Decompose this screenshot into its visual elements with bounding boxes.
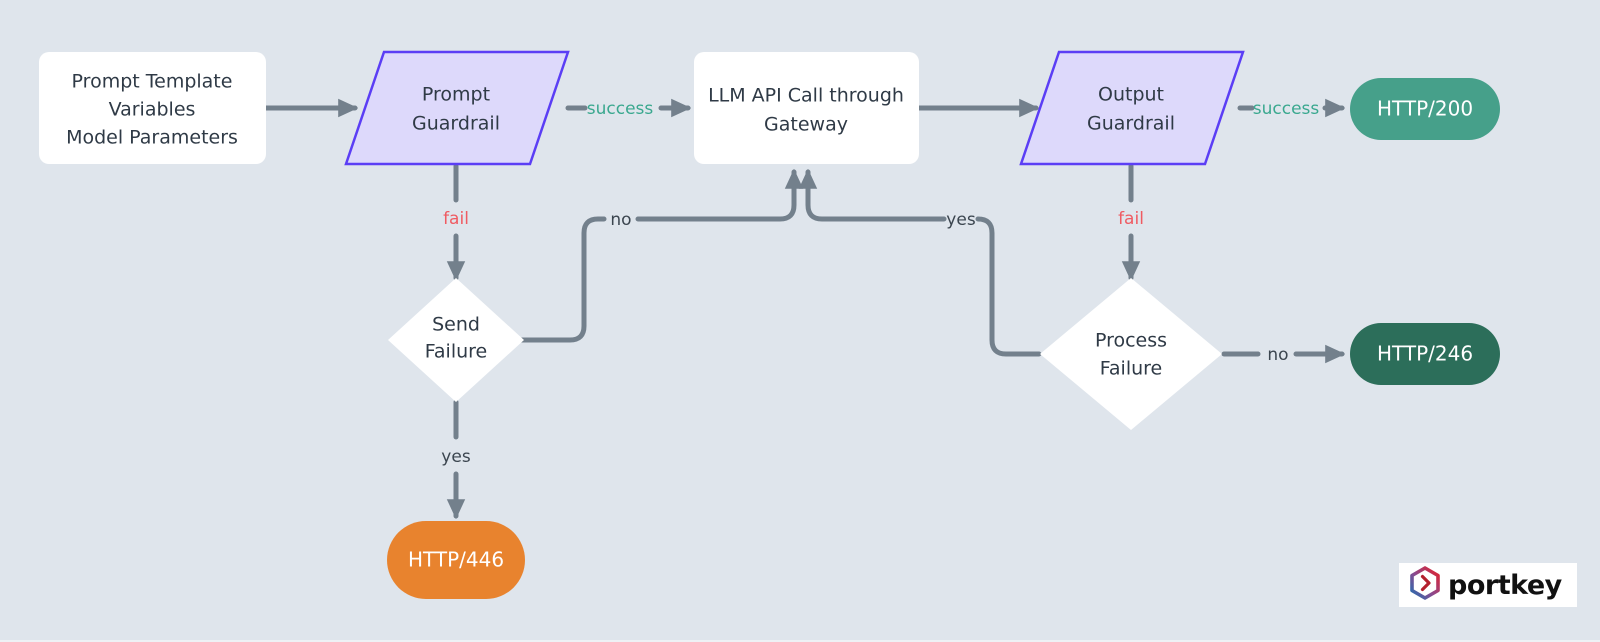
portkey-logo: portkey — [1399, 563, 1577, 607]
edge-send-failure-no: no — [521, 172, 794, 340]
node-input-line-1: Prompt Template — [72, 71, 233, 93]
node-input[interactable]: Prompt Template Variables Model Paramete… — [39, 52, 266, 164]
node-input-line-3: Model Parameters — [66, 127, 238, 149]
flowchart-svg: success fail success fail no — [0, 0, 1600, 642]
node-llm-call-line-1: LLM API Call through — [708, 85, 904, 107]
edge-output-guardrail-fail: fail — [1118, 166, 1144, 278]
node-output-guardrail-line-2: Guardrail — [1087, 113, 1175, 135]
edge-label-send-yes: yes — [441, 447, 471, 467]
portkey-hexagon-chevron-icon — [1409, 566, 1441, 604]
node-output-guardrail-line-1: Output — [1098, 84, 1164, 106]
edge-label-send-no: no — [610, 210, 631, 230]
edge-label-output-fail: fail — [1118, 209, 1144, 229]
node-http-446[interactable]: HTTP/446 — [387, 521, 525, 599]
edge-prompt-guardrail-fail: fail — [443, 166, 469, 278]
edge-label-prompt-success: success — [587, 99, 654, 119]
node-send-failure[interactable]: Send Failure — [388, 278, 524, 402]
node-http-446-label: HTTP/446 — [408, 548, 504, 572]
edge-send-failure-yes: yes — [441, 402, 471, 516]
node-process-failure[interactable]: Process Failure — [1040, 278, 1222, 430]
node-input-line-2: Variables — [109, 99, 196, 121]
node-send-failure-line-1: Send — [432, 314, 480, 336]
node-process-failure-line-2: Failure — [1100, 358, 1163, 380]
edge-label-process-no: no — [1267, 345, 1288, 365]
node-prompt-guardrail-line-2: Guardrail — [412, 113, 500, 135]
node-http-200-label: HTTP/200 — [1377, 97, 1473, 121]
node-llm-call-line-2: Gateway — [764, 114, 848, 136]
node-http-246-label: HTTP/246 — [1377, 342, 1473, 366]
edge-prompt-guardrail-success: success — [568, 99, 688, 119]
portkey-wordmark: portkey — [1448, 572, 1562, 599]
edge-process-failure-no: no — [1224, 345, 1342, 365]
node-prompt-guardrail[interactable]: Prompt Guardrail — [346, 52, 568, 164]
node-send-failure-line-2: Failure — [425, 341, 488, 363]
edge-label-prompt-fail: fail — [443, 209, 469, 229]
edge-output-guardrail-success: success — [1240, 99, 1342, 119]
edge-label-output-success: success — [1253, 99, 1320, 119]
node-process-failure-line-1: Process — [1095, 330, 1167, 352]
edge-label-process-yes: yes — [946, 210, 976, 230]
node-http-246[interactable]: HTTP/246 — [1350, 323, 1500, 385]
node-llm-call[interactable]: LLM API Call through Gateway — [694, 52, 919, 164]
flowchart-canvas: success fail success fail no — [0, 0, 1600, 642]
node-http-200[interactable]: HTTP/200 — [1350, 78, 1500, 140]
edge-process-failure-yes: yes — [808, 172, 1039, 354]
node-output-guardrail[interactable]: Output Guardrail — [1021, 52, 1243, 164]
node-prompt-guardrail-line-1: Prompt — [422, 84, 490, 106]
